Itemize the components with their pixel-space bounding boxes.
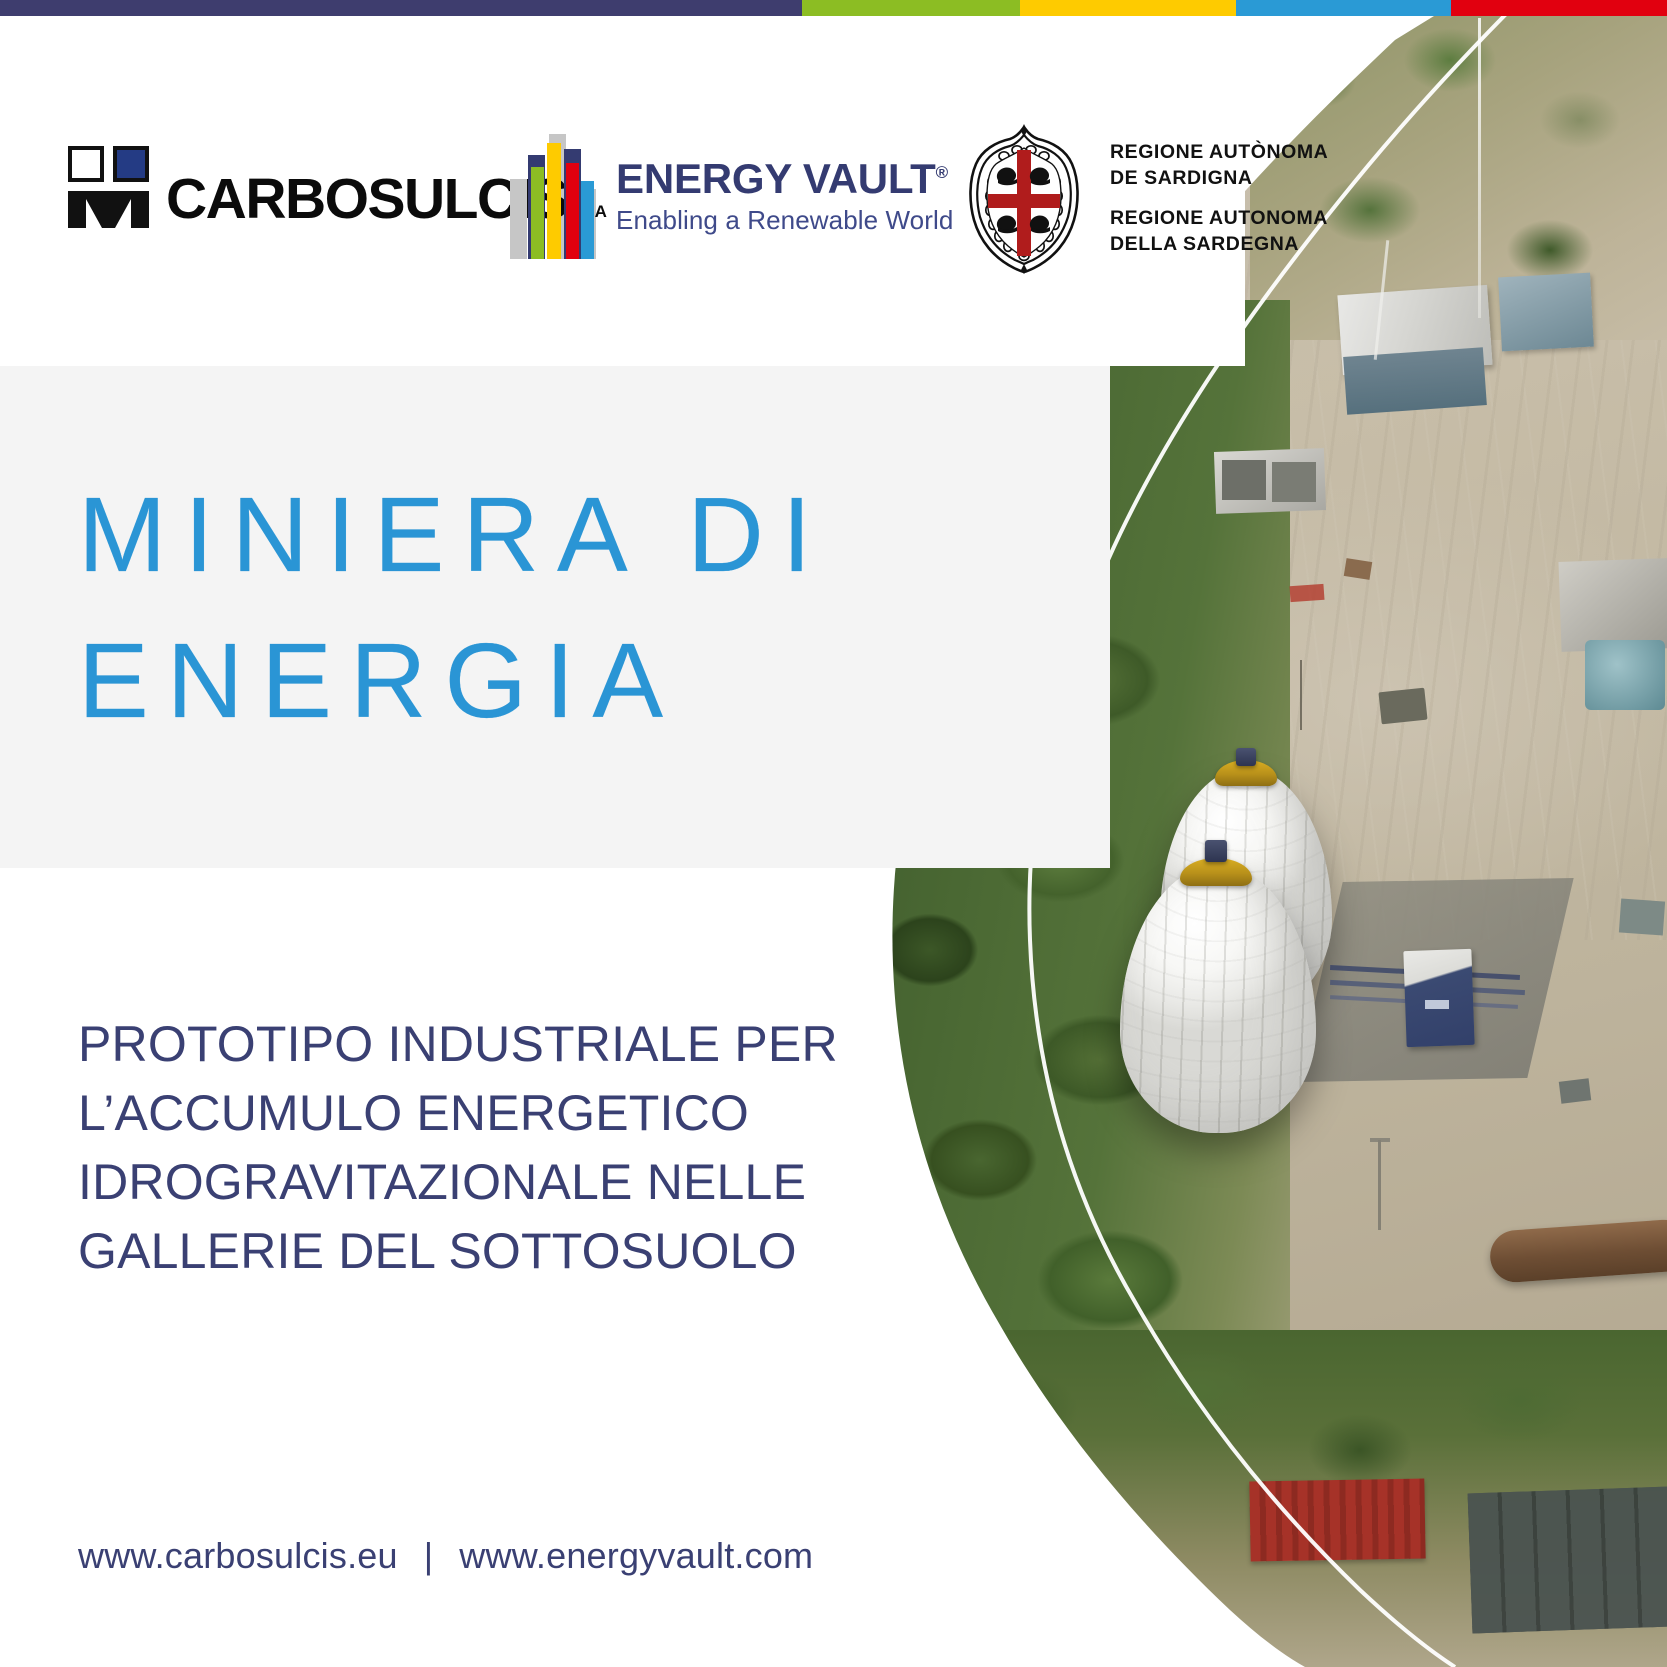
building-small-door — [1222, 460, 1266, 500]
shed-right — [1558, 558, 1667, 652]
page-title: MINIERA DI ENERGIA — [78, 462, 829, 755]
footer-links: www.carbosulcis.eu | www.energyvault.com — [78, 1535, 813, 1577]
regione-line-3: REGIONE AUTONOMA — [1110, 206, 1328, 232]
regione-line-1: REGIONE AUTÒNOMA — [1110, 140, 1328, 166]
utility-pole — [1300, 660, 1302, 730]
bladder-cap-back — [1236, 748, 1256, 766]
carbosulcis-square-blue — [113, 146, 149, 182]
page-subtitle: PROTOTIPO INDUSTRIALE PER L’ACCUMULO ENE… — [78, 1010, 868, 1286]
building-small-door-2 — [1272, 462, 1316, 502]
control-cabin — [1403, 949, 1474, 1047]
bar-yellow — [547, 143, 561, 259]
stacked-crates — [1468, 1487, 1667, 1634]
energy-vault-name-text: ENERGY VAULT — [616, 155, 936, 202]
link-energyvault[interactable]: www.energyvault.com — [459, 1535, 813, 1577]
color-band-yellow — [1020, 0, 1236, 16]
energy-vault-wordmark: ENERGY VAULT® Enabling a Renewable World — [616, 158, 953, 236]
energy-vault-bars-icon — [508, 134, 596, 259]
regione-line-2: DE SARDIGNA — [1110, 166, 1328, 192]
site-object — [1289, 584, 1324, 602]
color-band-navy — [0, 0, 802, 16]
bar-red — [566, 163, 579, 259]
poster-canvas: CARBOSULCIS SpA ENERGY VAULT® Enabling a… — [0, 0, 1667, 1667]
water-tank-right — [1585, 640, 1665, 710]
regione-line-4: DELLA SARDEGNA — [1110, 232, 1328, 258]
bar-gray-1 — [510, 179, 527, 259]
site-object — [1619, 899, 1665, 936]
logo-row: CARBOSULCIS SpA ENERGY VAULT® Enabling a… — [0, 118, 1350, 278]
footer-separator: | — [424, 1535, 434, 1577]
energy-vault-tagline: Enabling a Renewable World — [616, 205, 953, 236]
energy-vault-logo[interactable]: ENERGY VAULT® Enabling a Renewable World — [508, 134, 953, 259]
light-pole-arm — [1370, 1138, 1390, 1142]
building-tank — [1498, 273, 1594, 352]
red-gate — [1249, 1478, 1425, 1561]
bladder-cap-front — [1205, 840, 1227, 862]
color-band-blue — [1236, 0, 1451, 16]
building-wall — [1343, 347, 1487, 415]
sardinia-coat-of-arms-icon — [962, 124, 1086, 274]
bar-cyan — [581, 181, 594, 259]
site-object — [1344, 558, 1372, 580]
carbosulcis-mark-icon — [68, 146, 150, 228]
carbosulcis-m-icon — [68, 191, 149, 228]
cabin-label — [1425, 1000, 1449, 1009]
color-band-red — [1451, 0, 1667, 16]
light-pole — [1378, 1140, 1381, 1230]
color-band-green — [802, 0, 1020, 16]
site-object — [1378, 688, 1427, 725]
bar-green — [531, 167, 544, 259]
registered-trademark-icon: ® — [936, 163, 948, 182]
antenna-mast — [1478, 18, 1481, 318]
regione-sardegna-wordmark: REGIONE AUTÒNOMA DE SARDIGNA REGIONE AUT… — [1110, 140, 1328, 258]
link-carbosulcis[interactable]: www.carbosulcis.eu — [78, 1535, 398, 1577]
top-color-bar — [0, 0, 1667, 16]
energy-vault-name: ENERGY VAULT® — [616, 158, 953, 200]
carbosulcis-square-white — [68, 146, 104, 182]
site-object — [1559, 1078, 1591, 1103]
regione-line-gap — [1110, 192, 1328, 206]
regione-sardegna-logo[interactable]: REGIONE AUTÒNOMA DE SARDIGNA REGIONE AUT… — [962, 124, 1328, 274]
